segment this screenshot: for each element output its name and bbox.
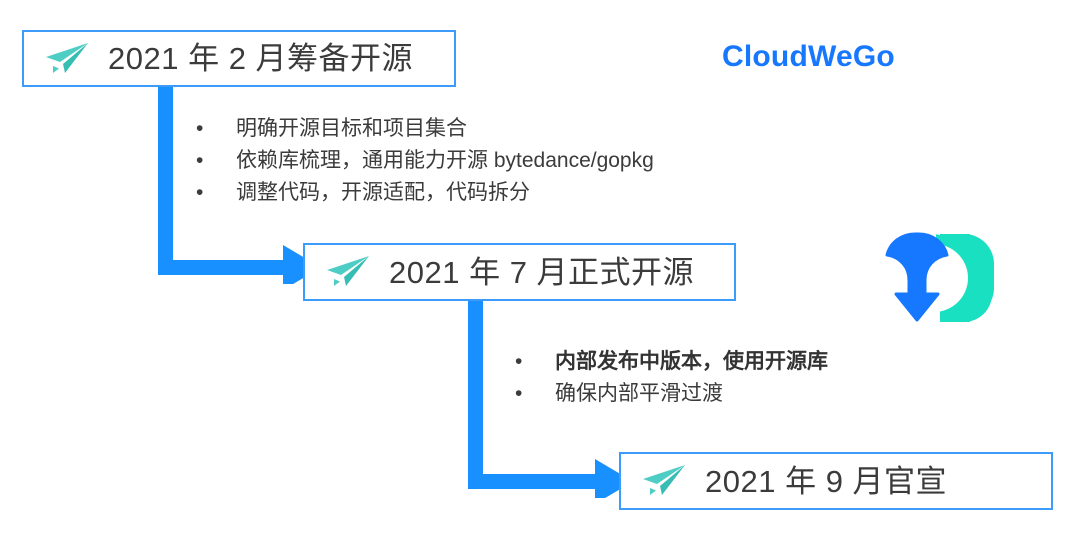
list-item-text: 明确开源目标和项目集合 xyxy=(236,118,467,139)
bullet-marker: • xyxy=(196,182,236,203)
milestone-box-1[interactable]: 2021 年 2 月筹备开源 xyxy=(22,30,456,87)
cloudwego-logo-icon xyxy=(878,232,1002,324)
details-group-1: • 明确开源目标和项目集合 • 依赖库梳理，通用能力开源 bytedance/g… xyxy=(196,118,654,203)
list-item: • 内部发布中版本，使用开源库 xyxy=(515,351,828,372)
milestone-label-2: 2021 年 7 月正式开源 xyxy=(389,257,694,288)
bullet-marker: • xyxy=(515,351,555,372)
bullet-marker: • xyxy=(515,383,555,404)
milestone-box-3[interactable]: 2021 年 9 月官宣 xyxy=(619,452,1053,510)
list-item-text: 内部发布中版本，使用开源库 xyxy=(555,351,828,372)
details-group-2: • 内部发布中版本，使用开源库 • 确保内部平滑过渡 xyxy=(515,351,828,404)
list-item: • 确保内部平滑过渡 xyxy=(515,383,828,404)
list-item: • 明确开源目标和项目集合 xyxy=(196,118,654,139)
bullet-marker: • xyxy=(196,118,236,139)
list-item-text: 调整代码，开源适配，代码拆分 xyxy=(236,182,530,203)
milestone-label-3: 2021 年 9 月官宣 xyxy=(705,466,947,497)
list-item: • 依赖库梳理，通用能力开源 bytedance/gopkg xyxy=(196,150,654,171)
milestone-box-2[interactable]: 2021 年 7 月正式开源 xyxy=(303,243,736,301)
cloudwego-logo-svg xyxy=(878,232,1002,324)
list-item-text: 确保内部平滑过渡 xyxy=(555,383,723,404)
milestone-label-1: 2021 年 2 月筹备开源 xyxy=(108,43,413,74)
list-item: • 调整代码，开源适配，代码拆分 xyxy=(196,182,654,203)
paper-plane-icon xyxy=(641,464,687,498)
list-item-text: 依赖库梳理，通用能力开源 bytedance/gopkg xyxy=(236,150,654,171)
paper-plane-icon xyxy=(325,255,371,289)
paper-plane-icon xyxy=(44,42,90,76)
brand-wordmark: CloudWeGo xyxy=(722,40,895,74)
bullet-marker: • xyxy=(196,150,236,171)
slide-canvas: CloudWeGo xyxy=(0,0,1080,546)
